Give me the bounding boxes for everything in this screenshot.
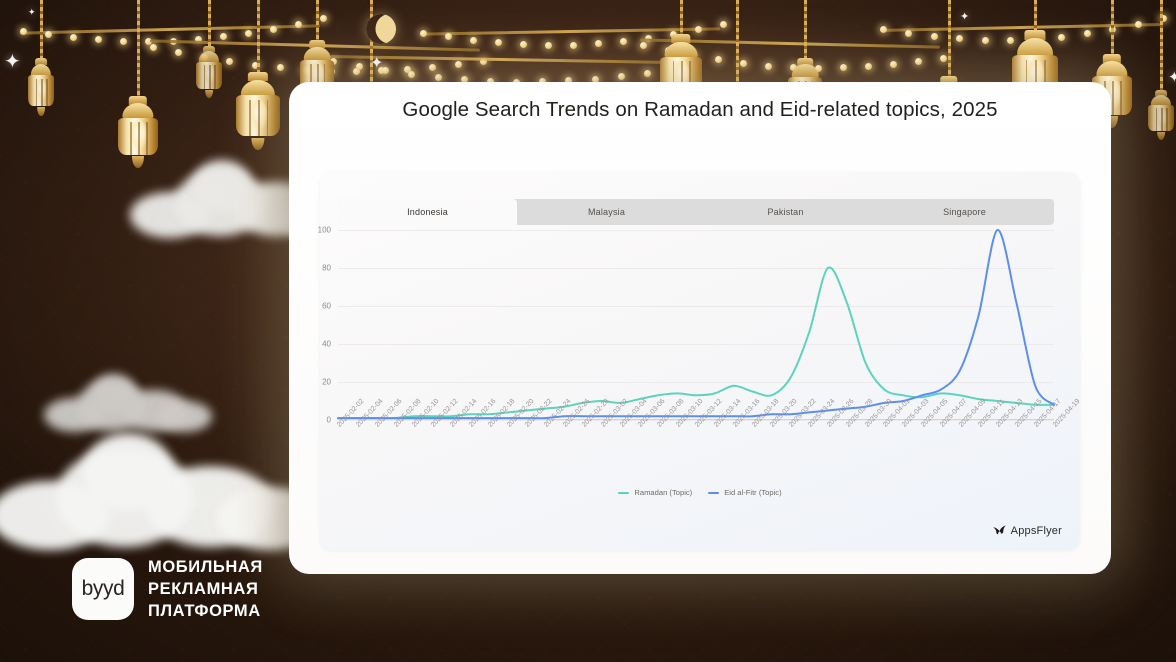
x-axis-ticks: 2025-02-022025-02-042025-02-062025-02-08…	[338, 424, 1054, 478]
star-icon: ✦	[28, 8, 36, 17]
string-light-bulb	[915, 58, 922, 65]
string-light-bulb	[120, 38, 127, 45]
string-light-bulb	[455, 61, 462, 68]
lantern-chain	[1034, 0, 1037, 30]
crescent-moon-icon	[362, 10, 400, 48]
star-icon: ✦	[960, 12, 969, 23]
string-light-bulb	[765, 63, 772, 70]
chart-series-lines	[338, 230, 1054, 420]
string-light-bulb	[890, 61, 897, 68]
string-light-bulb	[295, 21, 302, 28]
tab-singapore[interactable]: Singapore	[875, 199, 1054, 225]
string-light-bulb	[470, 37, 477, 44]
lantern-chain	[316, 0, 319, 40]
series-line	[338, 230, 1054, 418]
tab-malaysia[interactable]: Malaysia	[517, 199, 696, 225]
string-light-bulb	[408, 71, 415, 78]
byyd-tagline: МОБИЛЬНАЯ РЕКЛАМНАЯ ПЛАТФОРМА	[148, 556, 263, 622]
string-light-bulb	[618, 73, 625, 80]
legend-swatch-eid	[708, 492, 719, 494]
lantern-chain	[1111, 0, 1114, 54]
string-light-bulb	[220, 33, 227, 40]
string-light-bulb	[45, 31, 52, 38]
string-light-bulb	[940, 55, 947, 62]
string-light-bulb	[435, 74, 442, 81]
chart-card: Indonesia Malaysia Pakistan Singapore 02…	[320, 172, 1080, 550]
string-light-bulb	[175, 49, 182, 56]
string-light-bulb	[1058, 34, 1065, 41]
string-light-bulb	[595, 40, 602, 47]
y-tick-label: 60	[322, 302, 338, 311]
star-icon: ✦	[4, 52, 21, 72]
string-light-bulb	[495, 39, 502, 46]
byyd-tagline-line3: ПЛАТФОРМА	[148, 600, 263, 622]
string-light-bulb	[715, 56, 722, 63]
country-tabs[interactable]: Indonesia Malaysia Pakistan Singapore	[338, 199, 1054, 225]
string-light-bulb	[270, 26, 277, 33]
string-light-bulb	[644, 70, 651, 77]
legend-label-eid: Eid al-Fitr (Topic)	[724, 488, 781, 497]
string-light-bulb	[570, 42, 577, 49]
cloud-icon	[44, 372, 209, 432]
dashboard-panel: Google Search Trends on Ramadan and Eid-…	[289, 82, 1111, 574]
string-light-bulb	[520, 41, 527, 48]
appsflyer-label: AppsFlyer	[1011, 525, 1062, 537]
string-light-bulb	[20, 28, 27, 35]
string-light-bulb	[420, 30, 427, 37]
string-light-bulb	[880, 26, 887, 33]
lantern-chain	[1160, 0, 1163, 90]
chart-legend: Ramadan (Topic) Eid al-Fitr (Topic)	[320, 488, 1080, 497]
lantern-chain	[736, 0, 739, 92]
legend-swatch-ramadan	[618, 492, 629, 494]
lantern-icon	[1148, 90, 1174, 140]
byyd-tagline-line1: МОБИЛЬНАЯ	[148, 556, 263, 578]
legend-label-ramadan: Ramadan (Topic)	[634, 488, 692, 497]
string-light-bulb	[277, 64, 284, 71]
tab-pakistan[interactable]: Pakistan	[696, 199, 875, 225]
lantern-chain	[257, 0, 260, 72]
lantern-chain	[948, 0, 951, 76]
string-light-bulb	[356, 63, 363, 70]
byyd-tagline-line2: РЕКЛАМНАЯ	[148, 578, 263, 600]
string-light-bulb	[545, 42, 552, 49]
string-light-bulb	[226, 58, 233, 65]
string-light-bulb	[905, 30, 912, 37]
lantern-chain	[680, 0, 683, 34]
string-light-bulb	[840, 64, 847, 71]
string-light-bulb	[245, 30, 252, 37]
cloud-icon	[0, 430, 320, 550]
string-light-bulb	[620, 38, 627, 45]
lantern-chain	[137, 0, 140, 96]
y-tick-label: 40	[322, 340, 338, 349]
y-tick-label: 100	[318, 226, 338, 235]
page-title: Google Search Trends on Ramadan and Eid-…	[349, 96, 1051, 124]
string-light-bulb	[429, 64, 436, 71]
legend-item-ramadan[interactable]: Ramadan (Topic)	[618, 488, 692, 497]
string-light-bulb	[70, 34, 77, 41]
lantern-chain	[40, 0, 43, 58]
string-light-bulb	[95, 36, 102, 43]
string-light-bulb	[640, 42, 647, 49]
string-light-bulb	[1084, 30, 1091, 37]
string-light-bulb	[320, 15, 327, 22]
legend-item-eid[interactable]: Eid al-Fitr (Topic)	[708, 488, 781, 497]
tab-indonesia[interactable]: Indonesia	[338, 199, 517, 225]
byyd-mark: byyd	[72, 558, 134, 620]
string-light-bulb	[720, 21, 727, 28]
y-tick-label: 20	[322, 378, 338, 387]
string-light-bulb	[150, 44, 157, 51]
series-line	[338, 267, 1054, 418]
star-icon: ✦	[1168, 70, 1176, 85]
line-chart-plot-area: 020406080100	[338, 230, 1054, 420]
lantern-icon	[236, 72, 280, 150]
string-light-bulb	[931, 33, 938, 40]
string-light-bulb	[982, 37, 989, 44]
string-light-bulb	[1135, 21, 1142, 28]
lantern-chain	[804, 0, 807, 58]
lantern-icon	[28, 58, 54, 116]
string-light-bulb	[956, 35, 963, 42]
string-light-bulb	[695, 26, 702, 33]
lantern-chain	[208, 0, 211, 46]
string-light-bulb	[865, 63, 872, 70]
appsflyer-watermark: AppsFlyer	[992, 523, 1062, 538]
byyd-logo: byyd МОБИЛЬНАЯ РЕКЛАМНАЯ ПЛАТФОРМА	[72, 556, 263, 622]
string-light-bulb	[740, 60, 747, 67]
string-light-bulb	[445, 33, 452, 40]
appsflyer-bird-icon	[992, 523, 1007, 538]
lantern-icon	[196, 46, 222, 98]
y-tick-label: 80	[322, 264, 338, 273]
star-icon: ✦	[370, 56, 383, 72]
